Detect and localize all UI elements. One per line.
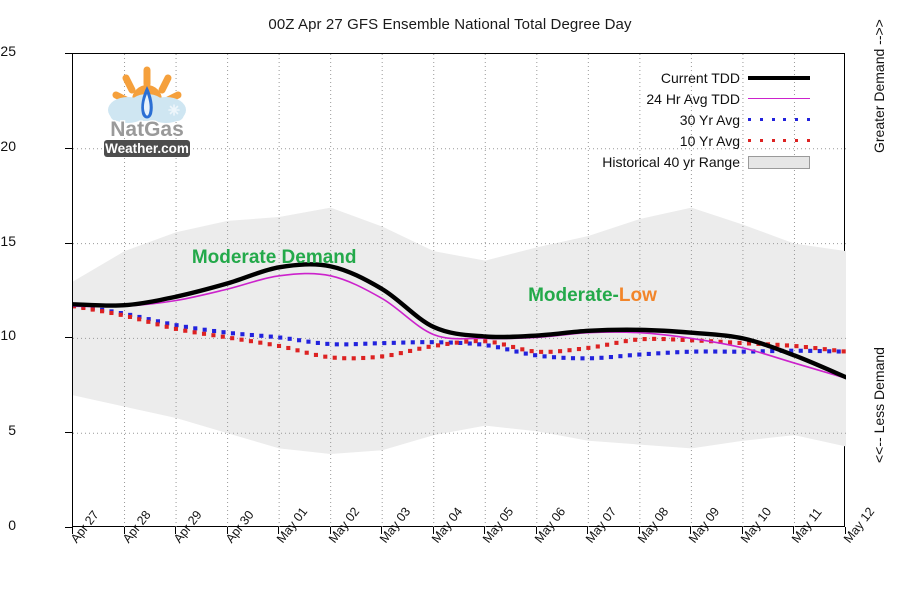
historical-range-band — [73, 208, 846, 454]
legend-item-historical-range[interactable]: Historical 40 yr Range — [540, 152, 810, 171]
annotation-text-orange: Low — [619, 285, 657, 306]
annotation-moderate-low: Moderate-Low — [528, 285, 657, 307]
y-tick-label: 5 — [0, 422, 16, 438]
legend-label: Current TDD — [661, 70, 740, 86]
legend-key-24hr-avg — [748, 93, 810, 105]
y-tick-mark — [65, 148, 72, 149]
legend-key-current-tdd — [748, 72, 810, 84]
annotation-text-green: Moderate- — [528, 285, 619, 306]
legend-label: 30 Yr Avg — [680, 112, 740, 128]
logo-graphic: NatGas Weather.com — [92, 62, 202, 162]
greater-demand-label: Greater Demand -->> — [871, 19, 887, 153]
y-tick-label: 0 — [0, 517, 16, 533]
logo-text-natgas: NatGas — [110, 118, 184, 141]
annotation-moderate-demand: Moderate Demand — [192, 247, 357, 269]
legend-item-24hr-avg-tdd[interactable]: 24 Hr Avg TDD — [540, 89, 810, 108]
y-tick-mark — [65, 432, 72, 433]
legend: Current TDD 24 Hr Avg TDD 30 Yr Avg 10 Y… — [540, 68, 810, 171]
legend-item-10yr-avg[interactable]: 10 Yr Avg — [540, 131, 810, 150]
chart-title: 00Z Apr 27 GFS Ensemble National Total D… — [0, 16, 900, 33]
legend-item-30yr-avg[interactable]: 30 Yr Avg — [540, 110, 810, 129]
x-tick-label: May 12 — [841, 505, 877, 546]
legend-label: 10 Yr Avg — [680, 133, 740, 149]
y-tick-mark — [65, 53, 72, 54]
y-tick-label: 20 — [0, 138, 16, 154]
legend-key-historical-range — [748, 156, 810, 168]
snowflake-icon — [169, 105, 179, 115]
chart-root: 00Z Apr 27 GFS Ensemble National Total D… — [0, 0, 900, 600]
y-tick-mark — [65, 527, 72, 528]
legend-key-30yr-avg — [748, 114, 810, 126]
legend-item-current-tdd[interactable]: Current TDD — [540, 68, 810, 87]
logo-text-weather-dot-com: Weather.com — [105, 141, 189, 156]
y-tick-label: 10 — [0, 327, 16, 343]
natgasweather-logo: NatGas Weather.com — [92, 62, 202, 162]
legend-key-10yr-avg — [748, 135, 810, 147]
y-tick-label: 25 — [0, 43, 16, 59]
legend-label: 24 Hr Avg TDD — [646, 91, 740, 107]
y-tick-mark — [65, 337, 72, 338]
annotation-text: Moderate Demand — [192, 247, 357, 268]
y-tick-mark — [65, 243, 72, 244]
y-tick-label: 15 — [0, 233, 16, 249]
legend-label: Historical 40 yr Range — [602, 154, 740, 170]
less-demand-label: <<-- Less Demand — [871, 347, 887, 463]
